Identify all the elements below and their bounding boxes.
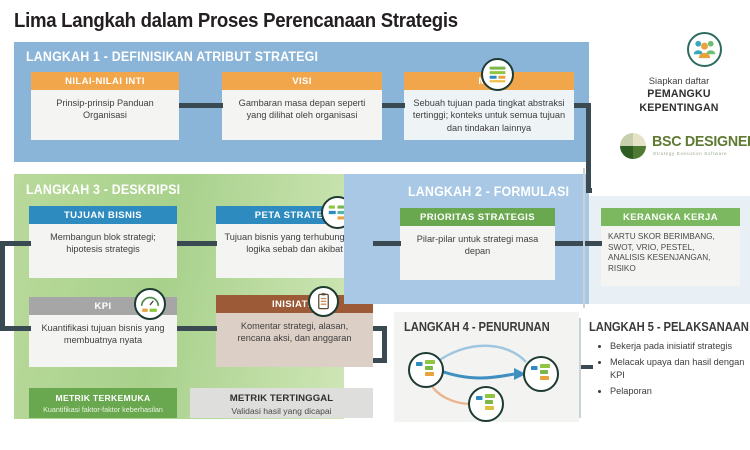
stakeholder-people-icon <box>687 32 722 67</box>
metric-lagging-sub: Validasi hasil yang dicapai <box>190 406 373 416</box>
cascade-diagram <box>398 334 576 422</box>
list-item: Pelaporan <box>610 385 746 397</box>
stakeholder-line-2: PEMANGKU <box>624 87 734 101</box>
connector <box>0 326 31 331</box>
gauge-icon-glyph <box>139 293 161 315</box>
metric-leading: METRIK TERKEMUKA Kuantifikasi faktor-fak… <box>29 388 177 418</box>
card-mission-body: Sebuah tujuan pada tingkat abstraksi ter… <box>404 90 574 140</box>
divider <box>579 318 581 418</box>
brand-name: BSC DESIGNER <box>652 133 750 150</box>
step-1-header: LANGKAH 1 - DEFINISIKAN ATRIBUT STRATEGI <box>26 49 318 64</box>
metric-lagging-title: METRIK TERTINGGAL <box>190 393 373 404</box>
clipboard-icon <box>308 286 339 317</box>
card-strategic-priorities[interactable]: PRIORITAS STRATEGIS Pilar-pilar untuk st… <box>400 208 555 280</box>
card-initiative-body: Komentar strategi, alasan, rencana aksi,… <box>216 313 373 351</box>
infographic-canvas: Lima Langkah dalam Proses Perencanaan St… <box>0 0 750 450</box>
step-3-header: LANGKAH 3 - DESKRIPSI <box>26 182 180 197</box>
connector <box>586 188 592 193</box>
connector <box>177 326 217 331</box>
step-5-header: LANGKAH 5 - PELAKSANAAN <box>589 320 749 334</box>
stakeholder-line-3: KEPENTINGAN <box>624 101 734 115</box>
card-core-values-header: NILAI-NILAI INTI <box>31 72 179 90</box>
card-core-values[interactable]: NILAI-NILAI INTI Prinsip-prinsip Panduan… <box>31 72 179 140</box>
divider <box>583 168 585 308</box>
gauge-icon <box>134 288 166 320</box>
metric-lagging: METRIK TERTINGGAL Validasi hasil yang di… <box>190 388 373 418</box>
card-vision-body: Gambaran masa depan seperti yang dilihat… <box>222 90 382 128</box>
card-framework[interactable]: KERANGKA KERJA KARTU SKOR BERIMBANG, SWO… <box>601 208 740 286</box>
step-2-header: LANGKAH 2 - FORMULASI <box>408 184 569 199</box>
card-vision-header: VISI <box>222 72 382 90</box>
list-item: Bekerja pada inisiatif strategis <box>610 340 746 352</box>
clipboard-icon-glyph <box>314 292 333 311</box>
four-quadrant-logo-mark-icon <box>619 132 647 160</box>
connector <box>179 103 223 108</box>
card-business-goals[interactable]: TUJUAN BISNIS Membangun blok strategi; h… <box>29 206 177 278</box>
stakeholder-note: Siapkan daftar PEMANGKU KEPENTINGAN <box>624 74 734 115</box>
metric-leading-title: METRIK TERKEMUKA <box>29 393 177 403</box>
card-vision[interactable]: VISI Gambaran masa depan seperti yang di… <box>222 72 382 140</box>
connector <box>581 365 593 369</box>
list-item: Melacak upaya dan hasil dengan KPI <box>610 356 746 381</box>
strategy-map-icon <box>481 58 514 91</box>
card-business-goals-header: TUJUAN BISNIS <box>29 206 177 224</box>
brand-tagline: Strategy Execution Software <box>653 151 727 156</box>
connector <box>373 358 387 363</box>
card-initiative[interactable]: INISIATIF Komentar strategi, alasan, ren… <box>216 295 373 367</box>
card-framework-body: KARTU SKOR BERIMBANG, SWOT, VRIO, PESTEL… <box>601 226 740 280</box>
metric-leading-sub: Kuantifikasi faktor-faktor keberhasilan <box>29 405 177 414</box>
step-4-header: LANGKAH 4 - PENURUNAN <box>404 320 550 334</box>
card-kpi-body: Kuantifikasi tujuan bisnis yang membuatn… <box>29 315 177 353</box>
strategy-map-icon-glyph <box>487 64 508 85</box>
connector <box>373 241 401 246</box>
card-strategic-priorities-body: Pilar-pilar untuk strategi masa depan <box>400 226 555 264</box>
page-title: Lima Langkah dalam Proses Perencanaan St… <box>14 9 458 33</box>
card-framework-header: KERANGKA KERJA <box>601 208 740 226</box>
connector <box>0 241 5 331</box>
step-5-bullets: Bekerja pada inisiatif strategis Melacak… <box>596 340 746 402</box>
connector <box>382 103 405 108</box>
card-core-values-body: Prinsip-prinsip Panduan Organisasi <box>31 90 179 128</box>
card-strategic-priorities-header: PRIORITAS STRATEGIS <box>400 208 555 226</box>
card-business-goals-body: Membangun blok strategi; hipotesis strat… <box>29 224 177 262</box>
connector <box>177 241 217 246</box>
brand-logo: BSC DESIGNER Strategy Execution Software <box>619 132 747 162</box>
stakeholder-people-icon-glyph <box>692 37 717 62</box>
connector <box>586 103 591 193</box>
connector <box>555 241 602 246</box>
stakeholder-line-1: Siapkan daftar <box>624 74 734 87</box>
